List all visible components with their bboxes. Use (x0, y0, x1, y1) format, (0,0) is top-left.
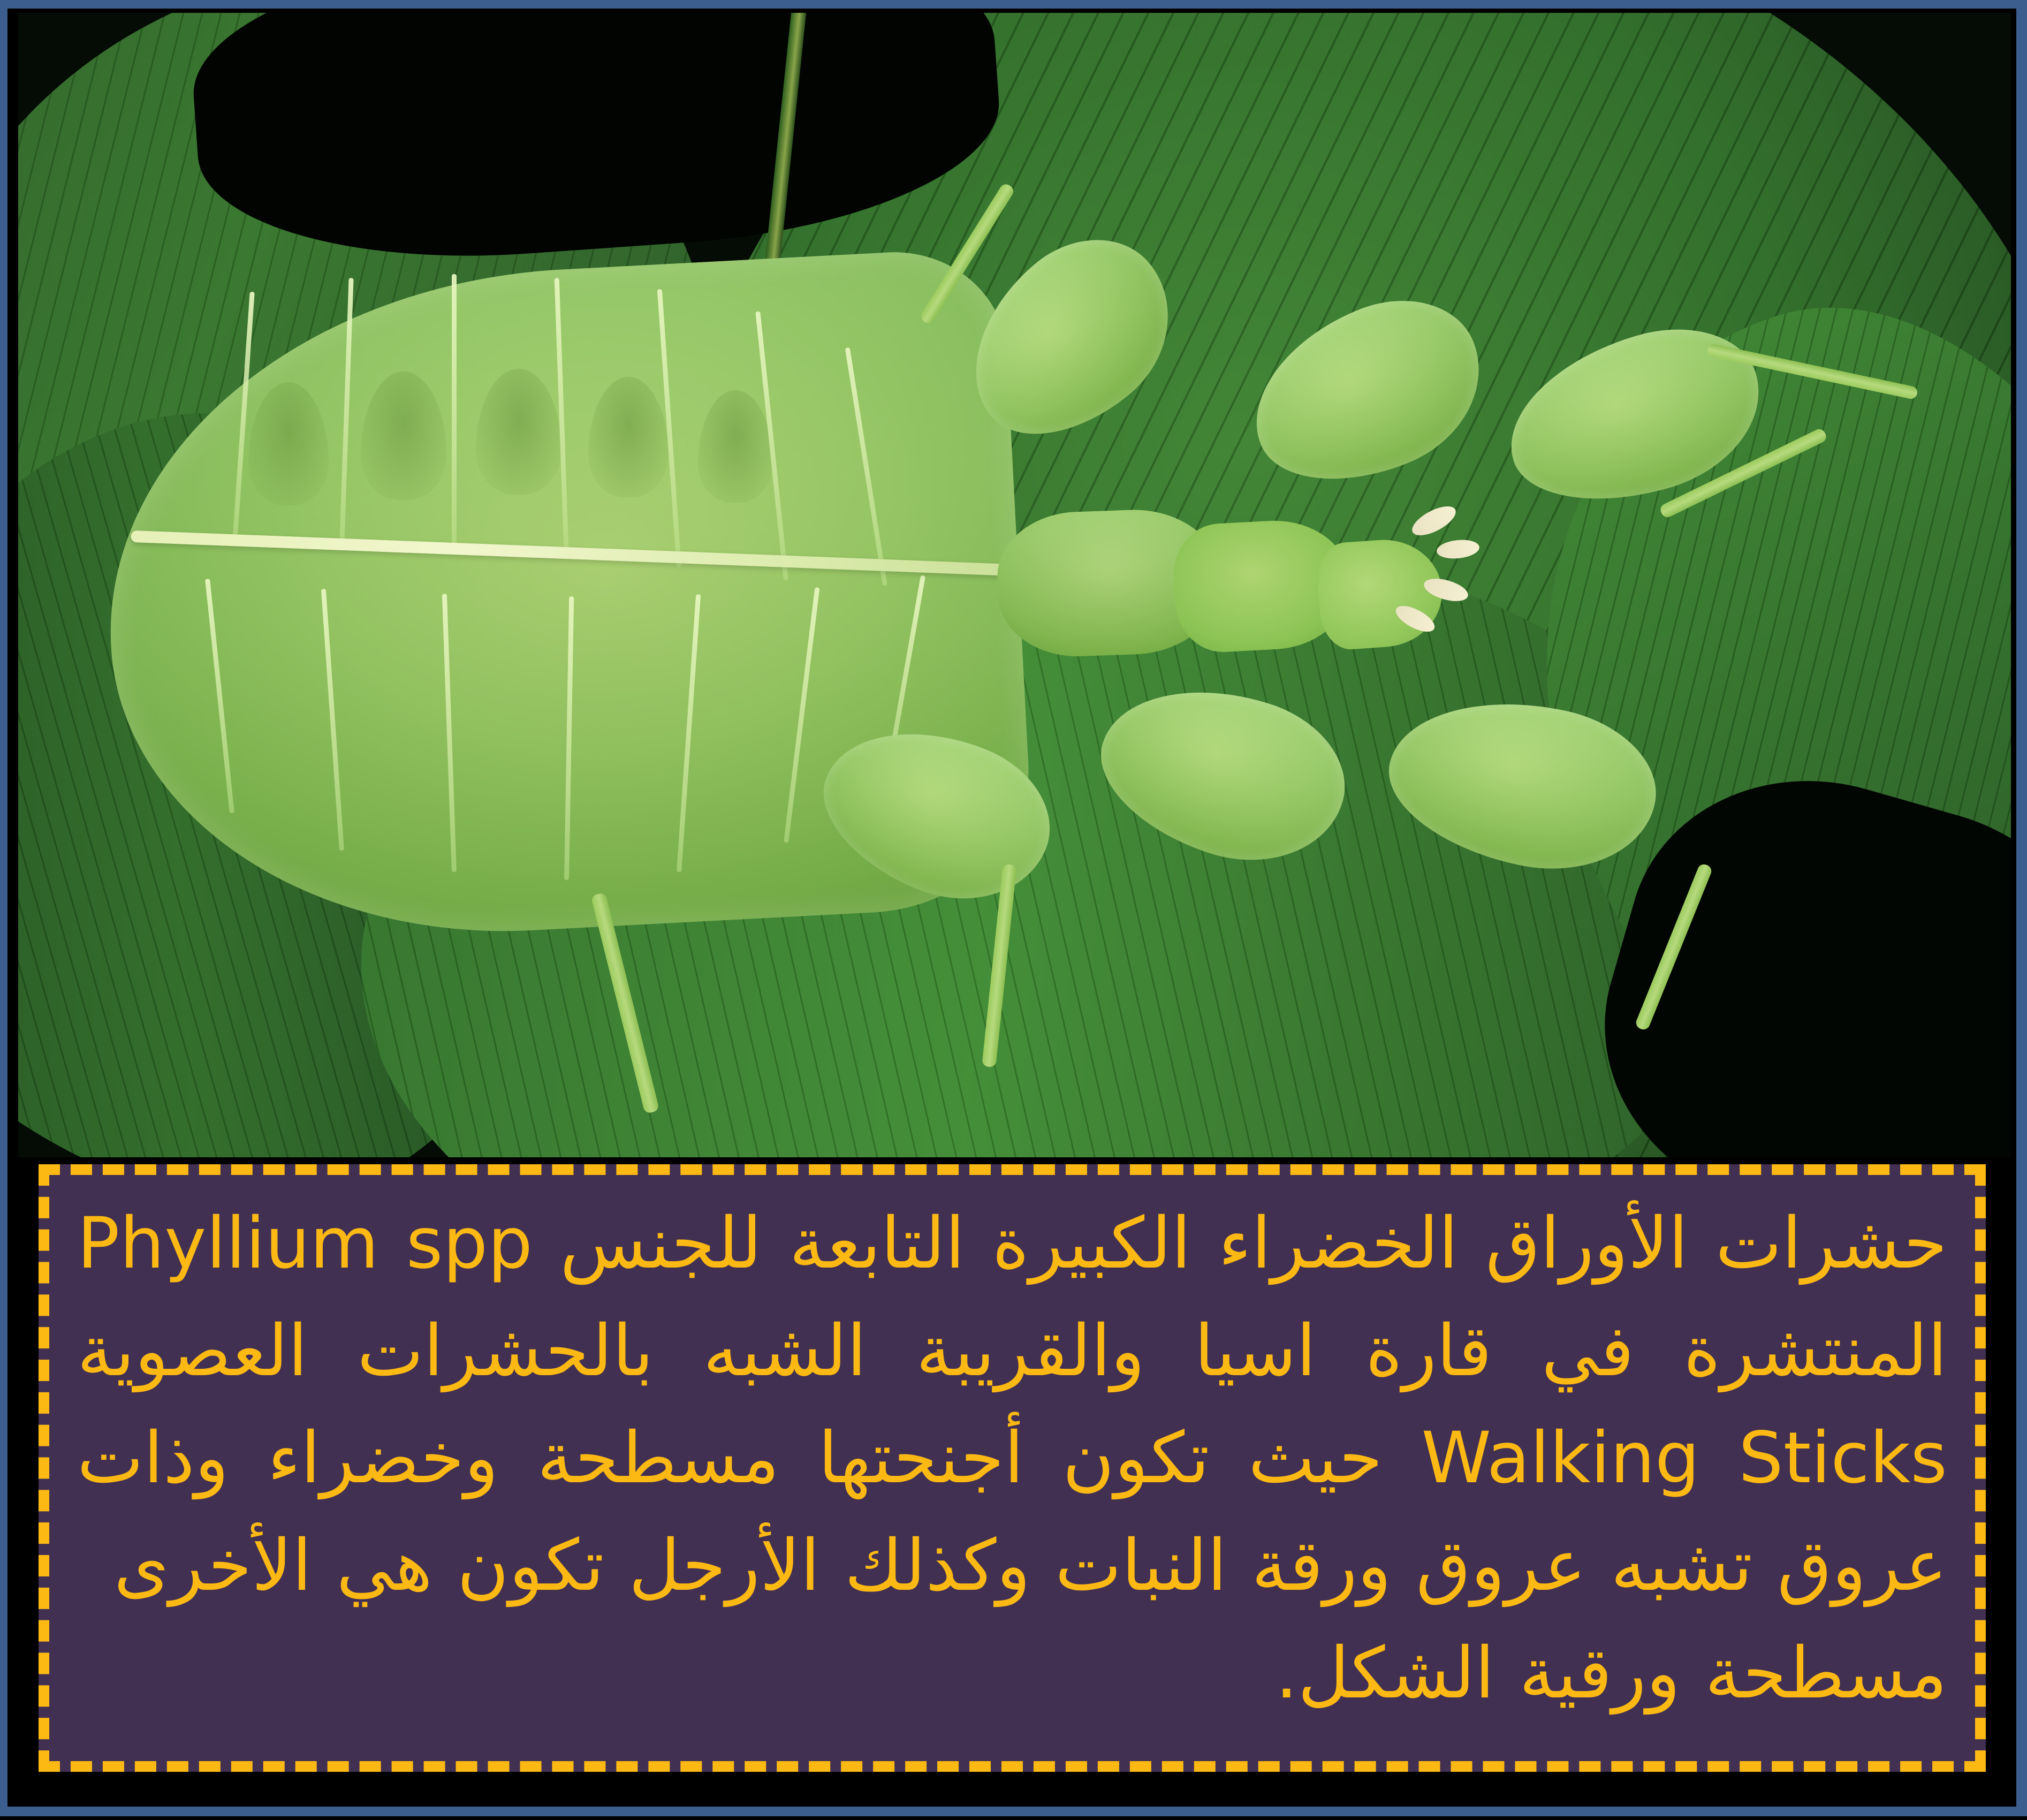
front-leg-tibia (591, 892, 660, 1114)
insect-photograph (18, 13, 2011, 1157)
frame-border-bottom (0, 1807, 2027, 1816)
hind-leg-femur-lower (1375, 677, 1669, 890)
mid-leg-femur (1228, 275, 1506, 512)
frame-border-right (2016, 0, 2027, 1816)
caption-paragraph: حشرات الأوراق الخضراء الكبيرة التابعة لل… (77, 1190, 1947, 1727)
hind-leg-tibia (1634, 862, 1713, 1032)
frame-border-left (0, 0, 7, 1816)
caption-last-line: مسطحة ورقية الشكل. (77, 1620, 1947, 1727)
leaf-insect (18, 13, 2011, 1157)
poster-frame: حشرات الأوراق الخضراء الكبيرة التابعة لل… (0, 0, 2027, 1820)
frame-border-top (0, 0, 2027, 9)
antenna (1408, 500, 1460, 541)
antenna (1436, 538, 1480, 560)
insect-head (1315, 536, 1445, 651)
caption-body: حشرات الأوراق الخضراء الكبيرة التابعة لل… (77, 1202, 1947, 1607)
hind-leg-femur (1490, 307, 1779, 527)
mid-leg-femur-lower (1081, 658, 1364, 887)
wing-vein (452, 274, 457, 552)
caption-box: حشرات الأوراق الخضراء الكبيرة التابعة لل… (39, 1164, 1986, 1772)
